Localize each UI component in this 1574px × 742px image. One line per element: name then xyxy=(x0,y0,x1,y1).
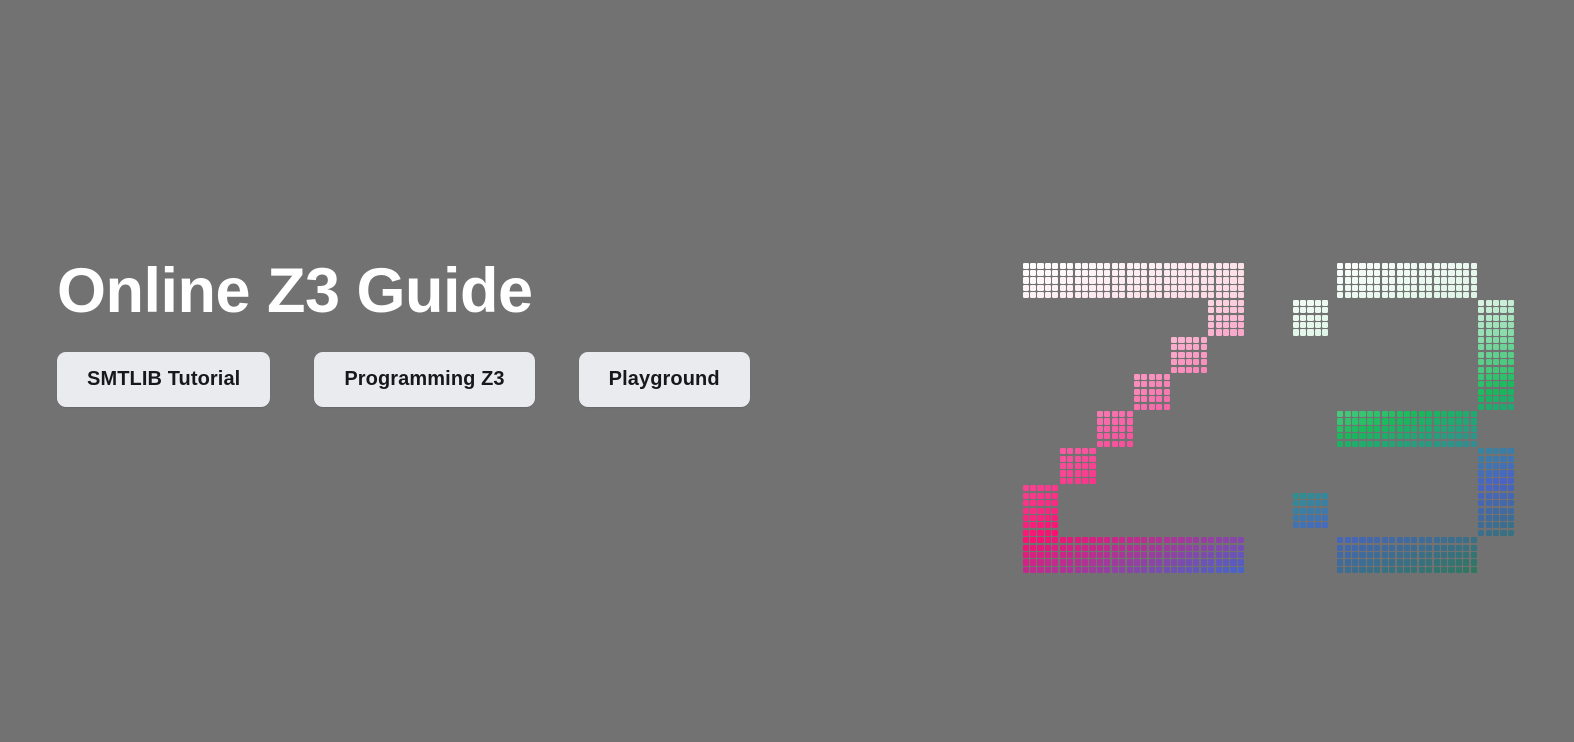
logo-pixel xyxy=(1471,567,1477,573)
logo-pixel xyxy=(1208,322,1214,328)
logo-pixel xyxy=(1397,559,1403,565)
logo-pixel xyxy=(1404,270,1410,276)
logo-pixel xyxy=(1508,515,1514,521)
page-title: Online Z3 Guide xyxy=(57,258,957,324)
logo-pixel xyxy=(1045,522,1051,528)
logo-pixel xyxy=(1419,537,1425,543)
logo-pixel xyxy=(1404,433,1410,439)
logo-pixel xyxy=(1216,300,1222,306)
logo-pixel xyxy=(1382,285,1388,291)
logo-pixel xyxy=(1060,292,1066,298)
logo-pixel xyxy=(1156,263,1162,269)
logo-pixel xyxy=(1508,367,1514,373)
smtlib-tutorial-button[interactable]: SMTLIB Tutorial xyxy=(57,352,270,407)
logo-pixel xyxy=(1493,493,1499,499)
logo-pixel xyxy=(1127,270,1133,276)
logo-pixel xyxy=(1216,277,1222,283)
logo-pixel xyxy=(1178,292,1184,298)
logo-pixel xyxy=(1037,559,1043,565)
logo-pixel xyxy=(1230,285,1236,291)
logo-pixel xyxy=(1441,441,1447,447)
logo-pixel xyxy=(1374,277,1380,283)
logo-pixel xyxy=(1097,270,1103,276)
logo-pixel xyxy=(1238,329,1244,335)
logo-pixel xyxy=(1293,522,1299,528)
logo-pixel xyxy=(1216,329,1222,335)
logo-pixel xyxy=(1164,389,1170,395)
logo-pixel xyxy=(1448,433,1454,439)
logo-pixel xyxy=(1230,537,1236,543)
logo-pixel xyxy=(1127,567,1133,573)
logo-pixel xyxy=(1230,559,1236,565)
logo-pixel xyxy=(1382,545,1388,551)
logo-pixel xyxy=(1337,418,1343,424)
logo-pixel xyxy=(1037,508,1043,514)
logo-pixel xyxy=(1127,292,1133,298)
logo-pixel xyxy=(1023,559,1029,565)
logo-pixel xyxy=(1478,530,1484,536)
logo-pixel xyxy=(1037,277,1043,283)
logo-pixel xyxy=(1023,522,1029,528)
logo-pixel xyxy=(1201,545,1207,551)
logo-pixel xyxy=(1508,374,1514,380)
logo-pixel xyxy=(1345,552,1351,558)
logo-pixel xyxy=(1230,270,1236,276)
logo-pixel xyxy=(1052,552,1058,558)
logo-pixel xyxy=(1075,463,1081,469)
logo-pixel xyxy=(1389,545,1395,551)
logo-pixel xyxy=(1419,545,1425,551)
logo-pixel xyxy=(1134,277,1140,283)
logo-pixel xyxy=(1171,537,1177,543)
logo-pixel xyxy=(1045,263,1051,269)
playground-button[interactable]: Playground xyxy=(579,352,750,407)
logo-pixel xyxy=(1119,433,1125,439)
logo-pixel xyxy=(1030,508,1036,514)
logo-pixel xyxy=(1216,545,1222,551)
logo-pixel xyxy=(1478,374,1484,380)
logo-pixel xyxy=(1322,493,1328,499)
logo-pixel xyxy=(1089,456,1095,462)
logo-pixel xyxy=(1374,545,1380,551)
logo-pixel xyxy=(1456,559,1462,565)
logo-pixel xyxy=(1478,508,1484,514)
logo-pixel xyxy=(1230,552,1236,558)
logo-pixel xyxy=(1082,552,1088,558)
logo-pixel xyxy=(1404,441,1410,447)
logo-pixel xyxy=(1216,567,1222,573)
logo-pixel xyxy=(1060,277,1066,283)
logo-pixel xyxy=(1397,433,1403,439)
logo-pixel xyxy=(1201,277,1207,283)
logo-pixel xyxy=(1374,559,1380,565)
logo-pixel xyxy=(1023,292,1029,298)
logo-pixel xyxy=(1208,545,1214,551)
logo-pixel xyxy=(1404,418,1410,424)
logo-pixel xyxy=(1478,456,1484,462)
logo-pixel xyxy=(1367,277,1373,283)
logo-pixel xyxy=(1216,263,1222,269)
logo-pixel xyxy=(1119,411,1125,417)
logo-pixel xyxy=(1441,559,1447,565)
logo-pixel xyxy=(1097,418,1103,424)
logo-pixel xyxy=(1208,315,1214,321)
logo-pixel xyxy=(1359,292,1365,298)
logo-pixel xyxy=(1060,559,1066,565)
logo-pixel xyxy=(1337,567,1343,573)
logo-pixel xyxy=(1201,552,1207,558)
logo-pixel xyxy=(1127,418,1133,424)
logo-pixel xyxy=(1397,411,1403,417)
logo-pixel xyxy=(1397,277,1403,283)
logo-pixel xyxy=(1456,441,1462,447)
logo-pixel xyxy=(1500,508,1506,514)
logo-pixel xyxy=(1052,263,1058,269)
logo-pixel xyxy=(1307,307,1313,313)
pixel-grid-z xyxy=(1022,262,1245,574)
logo-pixel xyxy=(1397,567,1403,573)
logo-pixel xyxy=(1337,277,1343,283)
logo-pixel xyxy=(1382,559,1388,565)
logo-pixel xyxy=(1230,322,1236,328)
logo-pixel xyxy=(1300,307,1306,313)
logo-pixel xyxy=(1171,277,1177,283)
logo-pixel xyxy=(1082,285,1088,291)
logo-pixel xyxy=(1486,381,1492,387)
logo-pixel xyxy=(1045,285,1051,291)
logo-pixel xyxy=(1082,292,1088,298)
logo-pixel xyxy=(1037,515,1043,521)
logo-pixel xyxy=(1127,263,1133,269)
logo-pixel xyxy=(1030,530,1036,536)
logo-pixel xyxy=(1238,263,1244,269)
logo-pixel xyxy=(1359,559,1365,565)
logo-pixel xyxy=(1149,285,1155,291)
logo-pixel xyxy=(1193,552,1199,558)
logo-pixel xyxy=(1493,522,1499,528)
logo-pixel xyxy=(1052,292,1058,298)
logo-pixel xyxy=(1156,567,1162,573)
logo-pixel xyxy=(1208,329,1214,335)
logo-pixel xyxy=(1397,537,1403,543)
logo-pixel xyxy=(1171,359,1177,365)
logo-pixel xyxy=(1315,508,1321,514)
logo-pixel xyxy=(1164,263,1170,269)
logo-pixel xyxy=(1486,315,1492,321)
logo-pixel xyxy=(1434,418,1440,424)
logo-pixel xyxy=(1134,389,1140,395)
logo-pixel xyxy=(1156,285,1162,291)
logo-pixel xyxy=(1141,381,1147,387)
logo-pixel xyxy=(1493,359,1499,365)
logo-pixel xyxy=(1486,530,1492,536)
logo-pixel xyxy=(1067,263,1073,269)
logo-pixel xyxy=(1097,537,1103,543)
logo-pixel xyxy=(1164,537,1170,543)
logo-pixel xyxy=(1345,418,1351,424)
logo-pixel xyxy=(1508,389,1514,395)
logo-pixel xyxy=(1075,277,1081,283)
logo-pixel xyxy=(1441,292,1447,298)
logo-pixel xyxy=(1382,277,1388,283)
logo-pixel xyxy=(1434,263,1440,269)
logo-pixel xyxy=(1500,307,1506,313)
logo-pixel xyxy=(1193,337,1199,343)
logo-pixel xyxy=(1493,367,1499,373)
logo-pixel xyxy=(1434,433,1440,439)
logo-pixel xyxy=(1389,270,1395,276)
logo-pixel xyxy=(1104,418,1110,424)
logo-pixel xyxy=(1082,545,1088,551)
logo-pixel xyxy=(1097,277,1103,283)
logo-pixel xyxy=(1075,552,1081,558)
logo-pixel xyxy=(1426,418,1432,424)
logo-pixel xyxy=(1104,552,1110,558)
logo-pixel xyxy=(1060,470,1066,476)
logo-pixel xyxy=(1441,545,1447,551)
logo-pixel xyxy=(1500,463,1506,469)
logo-pixel xyxy=(1156,389,1162,395)
logo-pixel xyxy=(1448,277,1454,283)
logo-pixel xyxy=(1500,500,1506,506)
logo-pixel xyxy=(1486,515,1492,521)
logo-pixel xyxy=(1419,418,1425,424)
logo-pixel xyxy=(1067,448,1073,454)
logo-pixel xyxy=(1075,456,1081,462)
logo-pixel xyxy=(1404,537,1410,543)
programming-z3-button[interactable]: Programming Z3 xyxy=(314,352,534,407)
logo-pixel xyxy=(1434,552,1440,558)
logo-pixel xyxy=(1411,292,1417,298)
logo-pixel xyxy=(1500,300,1506,306)
logo-pixel xyxy=(1426,559,1432,565)
logo-pixel xyxy=(1382,433,1388,439)
logo-pixel xyxy=(1404,411,1410,417)
logo-pixel xyxy=(1374,411,1380,417)
logo-pixel xyxy=(1141,404,1147,410)
logo-pixel xyxy=(1463,277,1469,283)
logo-pixel xyxy=(1486,508,1492,514)
logo-pixel xyxy=(1112,285,1118,291)
logo-pixel xyxy=(1367,537,1373,543)
logo-pixel xyxy=(1419,285,1425,291)
logo-pixel xyxy=(1404,263,1410,269)
logo-pixel xyxy=(1030,493,1036,499)
logo-pixel xyxy=(1089,277,1095,283)
logo-pixel xyxy=(1208,270,1214,276)
logo-pixel xyxy=(1201,344,1207,350)
logo-pixel xyxy=(1060,552,1066,558)
logo-pixel xyxy=(1134,381,1140,387)
logo-pixel xyxy=(1052,515,1058,521)
logo-pixel xyxy=(1404,552,1410,558)
logo-pixel xyxy=(1223,307,1229,313)
logo-pixel xyxy=(1082,470,1088,476)
logo-pixel xyxy=(1404,545,1410,551)
logo-pixel xyxy=(1067,478,1073,484)
logo-pixel xyxy=(1082,277,1088,283)
logo-pixel xyxy=(1441,537,1447,543)
logo-pixel xyxy=(1134,404,1140,410)
logo-pixel xyxy=(1411,559,1417,565)
logo-pixel xyxy=(1493,374,1499,380)
logo-pixel xyxy=(1119,426,1125,432)
logo-pixel xyxy=(1411,263,1417,269)
logo-pixel xyxy=(1023,567,1029,573)
logo-pixel xyxy=(1223,277,1229,283)
logo-pixel xyxy=(1382,426,1388,432)
logo-pixel xyxy=(1493,344,1499,350)
logo-pixel xyxy=(1500,522,1506,528)
logo-pixel xyxy=(1089,567,1095,573)
logo-pixel xyxy=(1397,292,1403,298)
logo-pixel xyxy=(1230,567,1236,573)
logo-pixel xyxy=(1456,537,1462,543)
logo-pixel xyxy=(1238,307,1244,313)
logo-pixel xyxy=(1352,418,1358,424)
logo-pixel xyxy=(1345,411,1351,417)
logo-pixel xyxy=(1448,545,1454,551)
logo-pixel xyxy=(1352,426,1358,432)
logo-pixel xyxy=(1448,292,1454,298)
logo-pixel xyxy=(1238,559,1244,565)
logo-pixel xyxy=(1367,545,1373,551)
logo-pixel xyxy=(1156,292,1162,298)
logo-pixel xyxy=(1434,545,1440,551)
logo-pixel xyxy=(1382,418,1388,424)
logo-pixel xyxy=(1463,292,1469,298)
logo-pixel xyxy=(1067,470,1073,476)
logo-pixel xyxy=(1171,337,1177,343)
logo-pixel xyxy=(1186,545,1192,551)
logo-pixel xyxy=(1322,522,1328,528)
logo-pixel xyxy=(1508,322,1514,328)
logo-pixel xyxy=(1104,559,1110,565)
logo-pixel xyxy=(1178,337,1184,343)
logo-pixel xyxy=(1493,322,1499,328)
logo-pixel xyxy=(1223,315,1229,321)
logo-pixel xyxy=(1463,567,1469,573)
logo-pixel xyxy=(1471,292,1477,298)
logo-pixel xyxy=(1367,567,1373,573)
logo-pixel xyxy=(1156,270,1162,276)
logo-pixel xyxy=(1508,485,1514,491)
logo-pixel xyxy=(1322,307,1328,313)
logo-pixel xyxy=(1052,485,1058,491)
logo-pixel xyxy=(1352,285,1358,291)
logo-pixel xyxy=(1419,559,1425,565)
logo-pixel xyxy=(1367,292,1373,298)
logo-pixel xyxy=(1201,537,1207,543)
logo-pixel xyxy=(1067,559,1073,565)
logo-pixel xyxy=(1300,493,1306,499)
logo-pixel xyxy=(1104,285,1110,291)
logo-pixel xyxy=(1486,456,1492,462)
logo-pixel xyxy=(1293,329,1299,335)
logo-pixel xyxy=(1023,500,1029,506)
logo-pixel xyxy=(1434,567,1440,573)
logo-pixel xyxy=(1045,515,1051,521)
logo-pixel xyxy=(1141,567,1147,573)
logo-pixel xyxy=(1389,292,1395,298)
logo-pixel xyxy=(1186,277,1192,283)
logo-pixel xyxy=(1208,263,1214,269)
logo-pixel xyxy=(1223,322,1229,328)
logo-pixel xyxy=(1104,441,1110,447)
logo-pixel xyxy=(1112,292,1118,298)
logo-pixel xyxy=(1208,537,1214,543)
logo-pixel xyxy=(1023,485,1029,491)
logo-pixel xyxy=(1426,263,1432,269)
logo-pixel xyxy=(1486,470,1492,476)
logo-pixel xyxy=(1471,263,1477,269)
logo-pixel xyxy=(1060,285,1066,291)
logo-pixel xyxy=(1359,418,1365,424)
logo-pixel xyxy=(1456,277,1462,283)
logo-pixel xyxy=(1486,463,1492,469)
logo-pixel xyxy=(1493,448,1499,454)
logo-pixel xyxy=(1127,559,1133,565)
logo-pixel xyxy=(1097,292,1103,298)
logo-pixel xyxy=(1186,344,1192,350)
logo-pixel xyxy=(1389,411,1395,417)
logo-pixel xyxy=(1434,285,1440,291)
logo-pixel xyxy=(1374,567,1380,573)
logo-pixel xyxy=(1223,292,1229,298)
logo-pixel xyxy=(1208,307,1214,313)
logo-pixel xyxy=(1389,426,1395,432)
logo-pixel xyxy=(1075,292,1081,298)
logo-pixel xyxy=(1238,285,1244,291)
logo-pixel xyxy=(1171,552,1177,558)
logo-pixel xyxy=(1419,433,1425,439)
logo-pixel xyxy=(1201,285,1207,291)
pixel-glyph-z xyxy=(1022,262,1245,574)
logo-pixel xyxy=(1426,537,1432,543)
logo-pixel xyxy=(1134,396,1140,402)
logo-pixel xyxy=(1104,411,1110,417)
logo-pixel xyxy=(1037,493,1043,499)
logo-pixel xyxy=(1508,396,1514,402)
logo-pixel xyxy=(1493,530,1499,536)
logo-pixel xyxy=(1052,270,1058,276)
logo-pixel xyxy=(1208,300,1214,306)
logo-pixel xyxy=(1156,552,1162,558)
logo-pixel xyxy=(1075,567,1081,573)
logo-pixel xyxy=(1478,515,1484,521)
logo-pixel xyxy=(1486,337,1492,343)
logo-pixel xyxy=(1345,277,1351,283)
logo-pixel xyxy=(1471,418,1477,424)
logo-pixel xyxy=(1082,263,1088,269)
logo-pixel xyxy=(1500,515,1506,521)
logo-pixel xyxy=(1486,329,1492,335)
logo-pixel xyxy=(1426,292,1432,298)
logo-pixel xyxy=(1164,404,1170,410)
logo-pixel xyxy=(1352,270,1358,276)
logo-pixel xyxy=(1045,277,1051,283)
logo-pixel xyxy=(1171,263,1177,269)
logo-pixel xyxy=(1508,478,1514,484)
logo-pixel xyxy=(1419,552,1425,558)
logo-pixel xyxy=(1186,292,1192,298)
logo-pixel xyxy=(1478,389,1484,395)
logo-pixel xyxy=(1119,545,1125,551)
logo-pixel xyxy=(1149,404,1155,410)
logo-pixel xyxy=(1486,404,1492,410)
logo-pixel xyxy=(1345,285,1351,291)
logo-pixel xyxy=(1223,552,1229,558)
